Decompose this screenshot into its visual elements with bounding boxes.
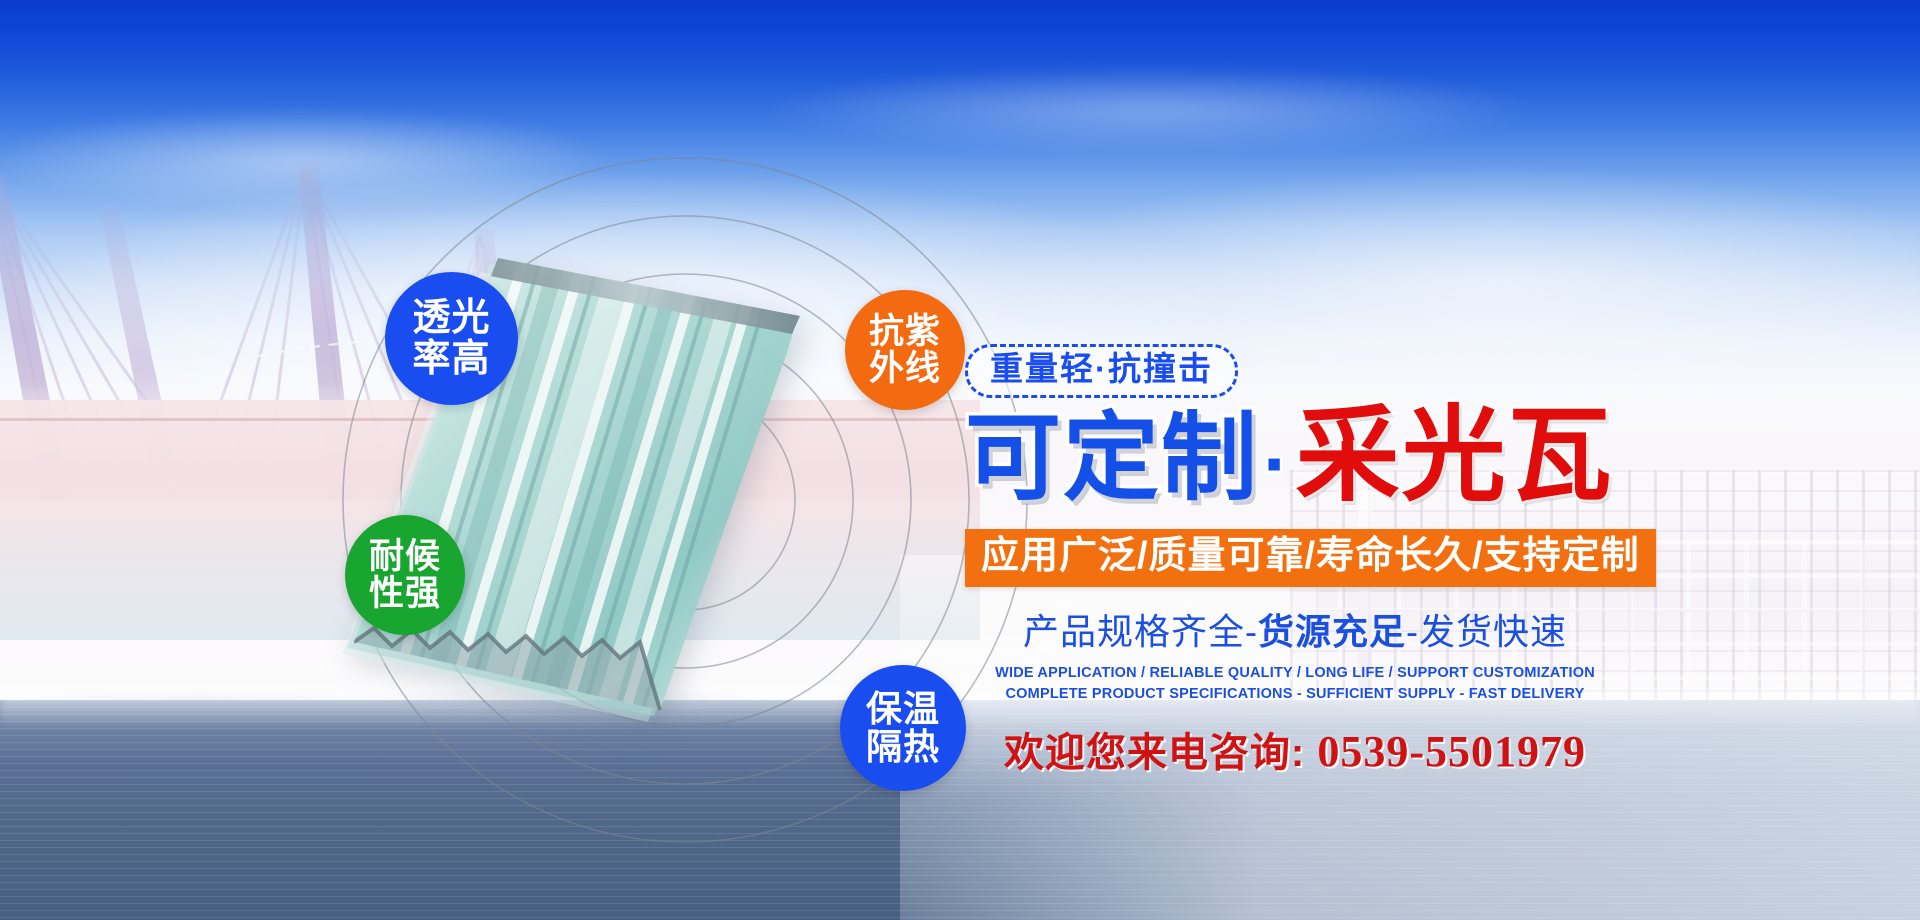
subtitle-cn-pre: 产品规格齐全- (1023, 611, 1258, 652)
badge-uv-line2: 外线 (869, 350, 941, 387)
contact-line: 欢迎您来电咨询: 0539-5501979 (965, 720, 1625, 778)
badge-insul-line1: 保温 (866, 690, 940, 728)
badge-light-line2: 率高 (412, 339, 490, 379)
feature-bar: 应用广泛/质量可靠/寿命长久/支持定制 (965, 529, 1656, 587)
badge-weather-resistant[interactable]: 耐候 性强 (345, 515, 465, 635)
badge-light-line1: 透光 (412, 298, 490, 338)
badge-uv-line1: 抗紫 (869, 313, 941, 350)
headline-red: 采光瓦 (1296, 398, 1614, 514)
headline-separator-dot: · (1259, 419, 1296, 508)
headline: 可定制·采光瓦 (965, 402, 1865, 511)
subtitle-en: WIDE APPLICATION / RELIABLE QUALITY / LO… (965, 663, 1625, 707)
subtitle-cn: 产品规格齐全-货源充足-发货快速 (965, 603, 1625, 655)
contact-phone-number[interactable]: 0539-5501979 (1317, 727, 1586, 776)
subtitle-en-line1: WIDE APPLICATION / RELIABLE QUALITY / LO… (965, 663, 1625, 685)
headline-blue: 可定制 (965, 405, 1259, 512)
contact-label: 欢迎您来电咨询: (1004, 731, 1305, 775)
subtitle-cn-bold: 货源充足 (1258, 611, 1406, 652)
copy-block: 重量轻·抗撞击 可定制·采光瓦 应用广泛/质量可靠/寿命长久/支持定制 产品规格… (965, 344, 1865, 778)
badge-weather-line1: 耐候 (369, 538, 441, 575)
badge-weather-line2: 性强 (369, 575, 441, 612)
promo-banner: 透光 率高 抗紫 外线 耐候 性强 保温 隔热 重量轻·抗撞击 可定制·采光瓦 … (0, 0, 1920, 920)
badge-uv-resistant[interactable]: 抗紫 外线 (845, 290, 965, 410)
subtitle-en-line2: COMPLETE PRODUCT SPECIFICATIONS - SUFFIC… (965, 684, 1625, 706)
badge-insul-line2: 隔热 (866, 728, 940, 766)
badge-light-transmission[interactable]: 透光 率高 (385, 272, 518, 405)
tagline-badge: 重量轻·抗撞击 (965, 344, 1238, 398)
subtitle-cn-post: -发货快速 (1406, 611, 1567, 652)
badge-thermal-insulation[interactable]: 保温 隔热 (840, 665, 966, 791)
